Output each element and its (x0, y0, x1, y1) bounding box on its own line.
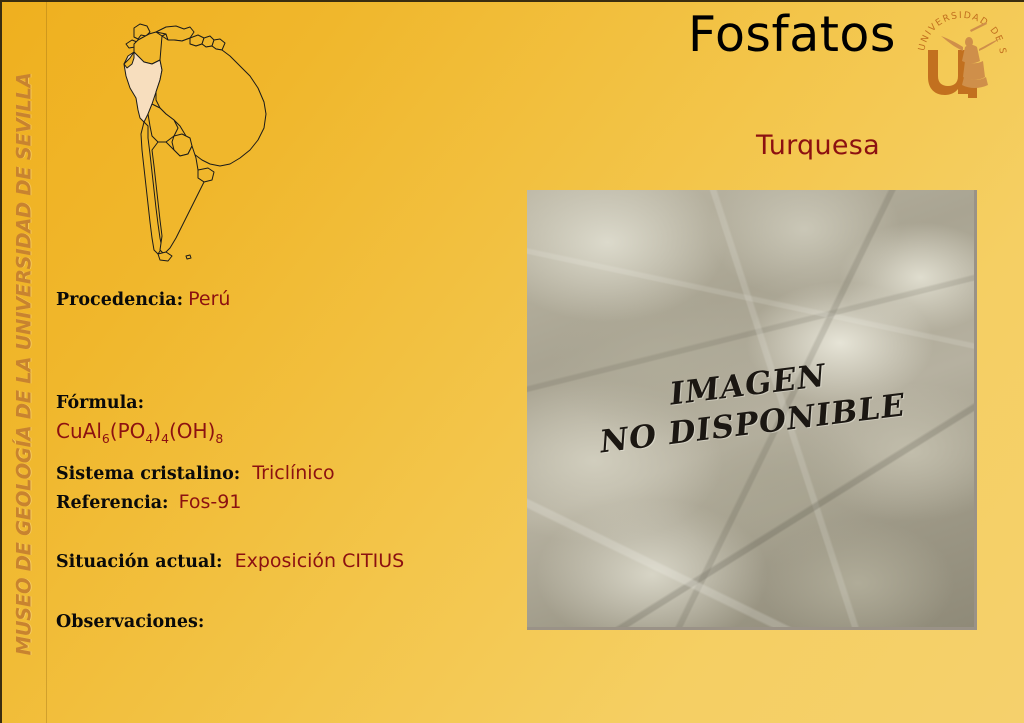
sistema-cristalino-label: Sistema cristalino: (56, 464, 240, 484)
museum-vertical-label: MUSEO DE GEOLOGÍA DE LA UNIVERSIDAD DE S… (13, 72, 36, 655)
mineral-name: Turquesa (756, 132, 880, 159)
situacion-actual-label: Situación actual: (56, 552, 222, 572)
referencia-value: Fos-91 (179, 491, 242, 513)
row-formula-label: Fórmula: (56, 393, 144, 413)
row-situacion-actual: Situación actual: Exposición CITIUS (56, 550, 404, 572)
row-observaciones: Observaciones: (56, 610, 204, 632)
specimen-photo-placeholder: IMAGEN NO DISPONIBLE (527, 190, 977, 630)
procedencia-label: Procedencia: (56, 290, 183, 310)
sistema-cristalino-value: Triclínico (252, 462, 334, 484)
procedencia-value: Perú (188, 288, 230, 310)
page-title: Fosfatos (688, 10, 896, 59)
slide-root: MUSEO DE GEOLOGÍA DE LA UNIVERSIDAD DE S… (0, 0, 1024, 723)
referencia-label: Referencia: (56, 493, 169, 513)
row-procedencia: Procedencia: Perú (56, 288, 230, 310)
row-referencia: Referencia: Fos-91 (56, 491, 241, 513)
situacion-actual-value: Exposición CITIUS (235, 550, 405, 572)
formula-value: CuAl6(PO4)4(OH)8 (56, 419, 223, 446)
formula-text: CuAl6(PO4)4(OH)8 (56, 419, 223, 443)
observaciones-label: Observaciones: (56, 612, 204, 632)
formula-label: Fórmula: (56, 393, 144, 413)
university-of-seville-logo: UNIVERSIDAD DE SEVILLA (914, 8, 1010, 104)
museum-sidebar-strip: MUSEO DE GEOLOGÍA DE LA UNIVERSIDAD DE S… (2, 2, 47, 723)
row-sistema-cristalino: Sistema cristalino: Triclínico (56, 462, 335, 484)
south-america-map (94, 14, 294, 262)
